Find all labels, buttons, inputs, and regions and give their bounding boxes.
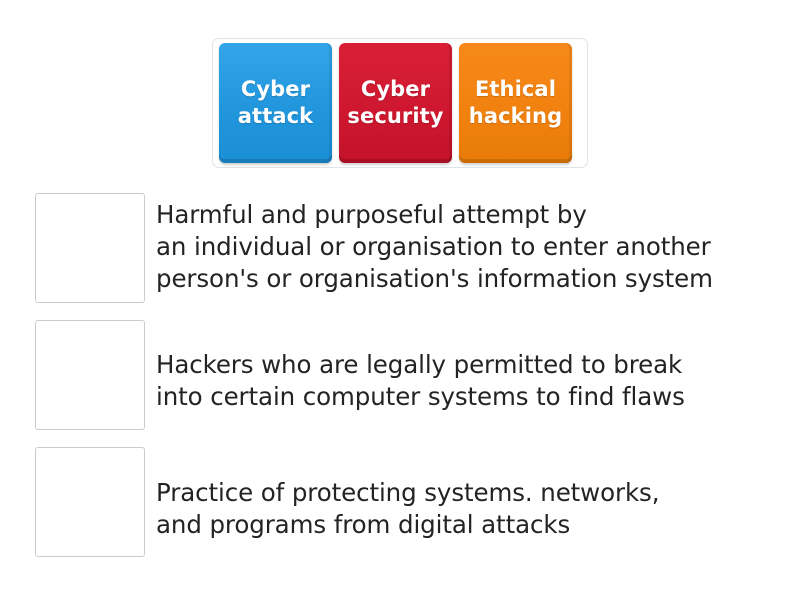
draggable-answer-tray: Cyber attack Cyber security Ethical hack… bbox=[212, 38, 588, 168]
draggable-tile-cyber-security[interactable]: Cyber security bbox=[339, 43, 452, 163]
drop-zone-2[interactable] bbox=[35, 320, 145, 430]
answer-row: Hackers who are legally permitted to bre… bbox=[35, 320, 780, 430]
answer-definition-text: Hackers who are legally permitted to bre… bbox=[156, 320, 780, 413]
answer-definition-text: Harmful and purposeful attempt by an ind… bbox=[156, 193, 780, 295]
answer-definition-text: Practice of protecting systems. networks… bbox=[156, 447, 780, 541]
draggable-tile-ethical-hacking[interactable]: Ethical hacking bbox=[459, 43, 572, 163]
tile-label: Ethical hacking bbox=[469, 76, 562, 130]
tile-label: Cyber attack bbox=[238, 76, 313, 130]
drop-zone-3[interactable] bbox=[35, 447, 145, 557]
tile-label: Cyber security bbox=[347, 76, 443, 130]
answer-row: Harmful and purposeful attempt by an ind… bbox=[35, 193, 780, 303]
drop-zone-1[interactable] bbox=[35, 193, 145, 303]
answer-list: Harmful and purposeful attempt by an ind… bbox=[35, 193, 780, 574]
answer-row: Practice of protecting systems. networks… bbox=[35, 447, 780, 557]
draggable-tile-cyber-attack[interactable]: Cyber attack bbox=[219, 43, 332, 163]
